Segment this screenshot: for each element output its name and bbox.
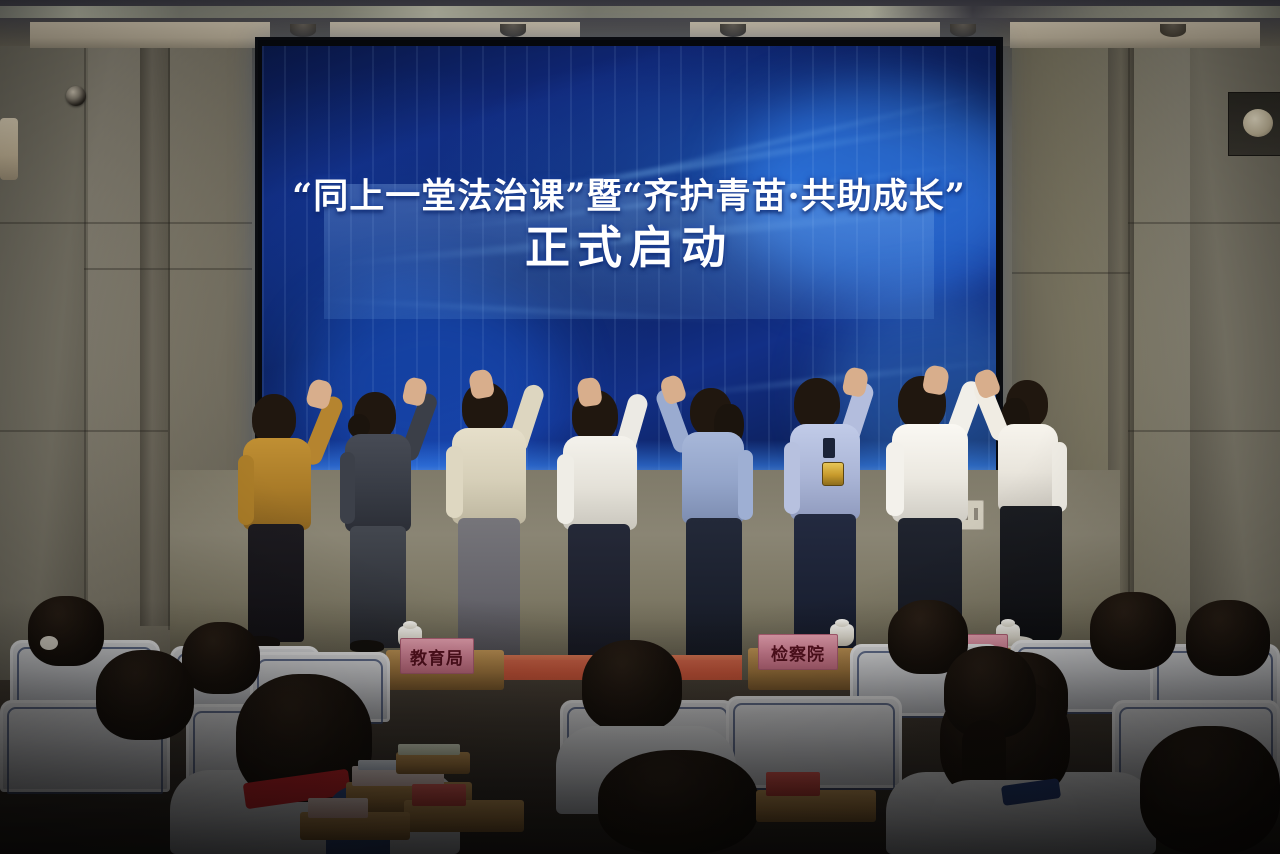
police-shoulder-badge-icon bbox=[822, 462, 844, 486]
ceiling-soffit bbox=[1010, 22, 1260, 48]
nameplate-education-bureau: 教育局 bbox=[400, 638, 474, 674]
epaulette-icon bbox=[823, 438, 835, 458]
panel-seam bbox=[84, 30, 86, 690]
book-icon bbox=[398, 744, 460, 755]
book-icon bbox=[766, 772, 820, 796]
auditorium-photo: “同上一堂法治课”暨“齐护青苗·共助成长” 正式启动 bbox=[0, 0, 1280, 854]
ceiling-soffit bbox=[30, 22, 270, 48]
ceiling-downlight bbox=[950, 24, 976, 37]
student-head bbox=[1186, 600, 1270, 676]
ceiling-downlight bbox=[1160, 24, 1186, 37]
student-head-front bbox=[598, 750, 758, 854]
panel-seam bbox=[0, 430, 168, 432]
panel-seam bbox=[1128, 30, 1130, 680]
student-head bbox=[28, 596, 104, 666]
exit-light-box bbox=[1228, 92, 1280, 156]
book-icon bbox=[308, 798, 368, 818]
ceiling-light-strip bbox=[0, 6, 1280, 18]
panel-seam bbox=[1128, 430, 1280, 432]
student-head bbox=[1090, 592, 1176, 670]
panel-seam bbox=[0, 222, 252, 224]
wall-pillar-left bbox=[140, 26, 170, 626]
nameplate-procuratorate: 检察院 bbox=[758, 634, 838, 670]
ceiling-downlight bbox=[290, 24, 316, 37]
panel-seam bbox=[84, 268, 252, 270]
student-desk bbox=[396, 752, 470, 774]
panel-seam bbox=[1012, 272, 1130, 274]
screen-title-banner-bar bbox=[324, 184, 934, 319]
ceiling-downlight bbox=[720, 24, 746, 37]
ceiling-downlight bbox=[500, 24, 526, 37]
student-head-front bbox=[1140, 726, 1280, 854]
wall-light bbox=[0, 118, 18, 180]
book-icon bbox=[412, 784, 466, 806]
student-head bbox=[96, 650, 194, 740]
panel-seam bbox=[1128, 222, 1280, 224]
student-head bbox=[182, 622, 260, 694]
dome-camera-icon bbox=[66, 86, 86, 106]
hair-tie-icon bbox=[40, 636, 58, 650]
student-head bbox=[582, 640, 682, 732]
